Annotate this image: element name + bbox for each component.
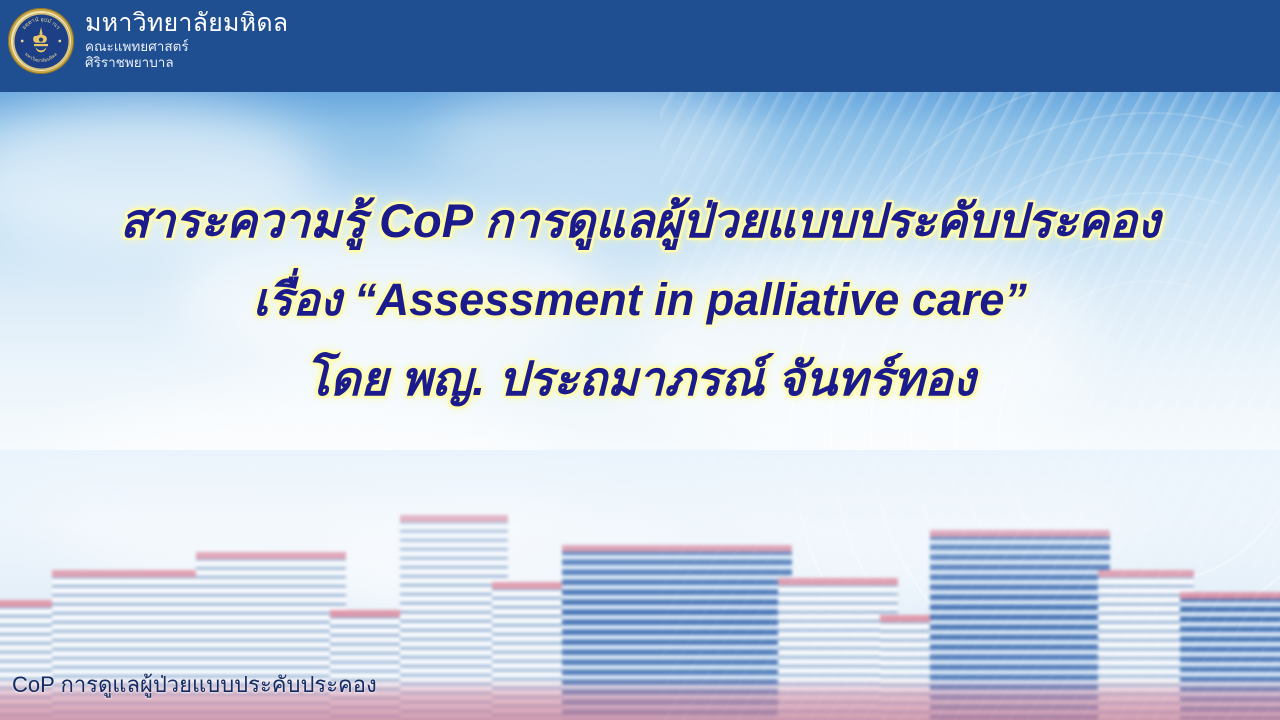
site-header: อตฺตานํ อุปมํ กเร มหาวิทยาลัยมหิดล [0,0,1280,92]
slide-caption: CoP การดูแลผู้ป่วยแบบประคับประคอง [12,667,377,702]
brand-text: มหาวิทยาลัยมหิดล คณะแพทยศาสตร์ ศิริราชพย… [85,11,288,72]
title-line-3: โดย พญ. ประถมาภรณ์ จันทร์ทอง [0,355,1280,402]
faculty-line-2: ศิริราชพยาบาล [85,55,288,71]
mahidol-seal-icon: อตฺตานํ อุปมํ กเร มหาวิทยาลัยมหิดล [8,8,74,74]
svg-text:มหาวิทยาลัยมหิดล: มหาวิทยาลัยมหิดล [23,52,59,64]
slide-title-block: สาระความรู้ CoP การดูแลผู้ป่วยแบบประคับป… [0,197,1280,402]
header-brand: อตฺตานํ อุปมํ กเร มหาวิทยาลัยมหิดล [8,8,288,74]
title-line-1: สาระความรู้ CoP การดูแลผู้ป่วยแบบประคับป… [0,197,1280,244]
university-name: มหาวิทยาลัยมหิดล [85,11,288,36]
slide-stage: อตฺตานํ อุปมํ กเร มหาวิทยาลัยมหิดล [0,0,1280,720]
slide-content: สาระความรู้ CoP การดูแลผู้ป่วยแบบประคับป… [0,92,1280,720]
faculty-line-1: คณะแพทยศาสตร์ [85,39,288,55]
title-line-2: เรื่อง “Assessment in palliative care” [0,277,1280,322]
